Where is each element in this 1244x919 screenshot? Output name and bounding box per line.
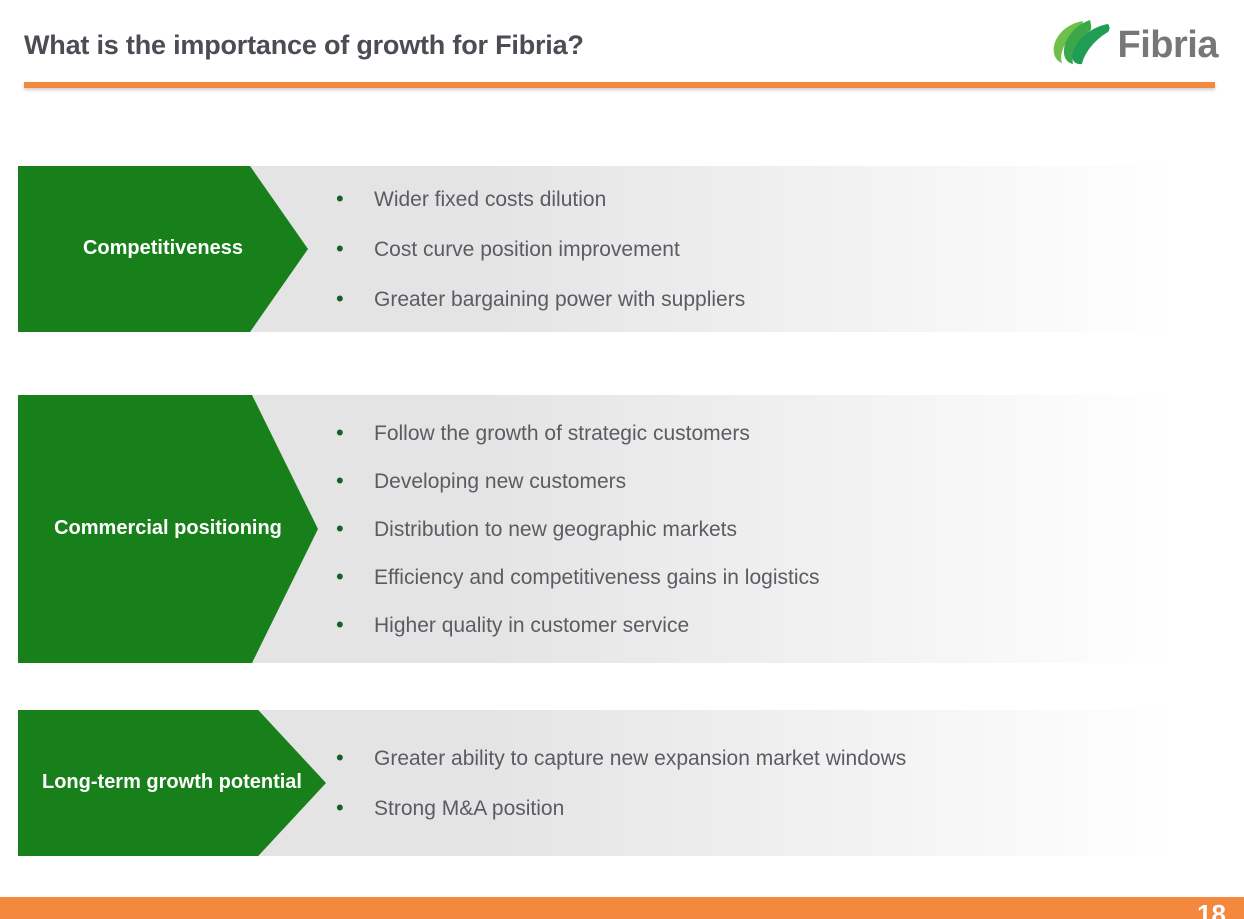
row-label-arrow-competitiveness: Competitiveness xyxy=(18,166,308,332)
row-commercial-positioning: Commercial positioning • Follow the grow… xyxy=(18,395,1175,663)
bullet-dot-icon: • xyxy=(336,422,374,444)
bullet-list-long-term-growth-potential: • Greater ability to capture new expansi… xyxy=(336,710,1175,856)
leaf-icon xyxy=(1050,18,1112,71)
list-item-label: Efficiency and competitiveness gains in … xyxy=(374,567,820,588)
list-item-label: Higher quality in customer service xyxy=(374,615,689,636)
logo-wordmark: Fibria xyxy=(1118,26,1218,64)
bullet-dot-icon: • xyxy=(336,747,374,769)
bullet-dot-icon: • xyxy=(336,797,374,819)
bullet-dot-icon: • xyxy=(336,188,374,210)
bullet-dot-icon: • xyxy=(336,566,374,588)
bullet-dot-icon: • xyxy=(336,238,374,260)
fibria-logo: Fibria xyxy=(1050,18,1218,71)
list-item-label: Developing new customers xyxy=(374,471,626,492)
list-item: • Distribution to new geographic markets xyxy=(336,518,1175,540)
footer-bar: 18 xyxy=(0,897,1244,919)
list-item: • Follow the growth of strategic custome… xyxy=(336,422,1175,444)
row-competitiveness: Competitiveness • Wider fixed costs dilu… xyxy=(18,166,1175,332)
list-item-label: Greater bargaining power with suppliers xyxy=(374,289,745,310)
list-item-label: Follow the growth of strategic customers xyxy=(374,423,750,444)
title-underline-rule xyxy=(24,82,1215,88)
bullet-list-commercial-positioning: • Follow the growth of strategic custome… xyxy=(336,395,1175,663)
list-item: • Greater ability to capture new expansi… xyxy=(336,747,1175,769)
list-item: • Wider fixed costs dilution xyxy=(336,188,1175,210)
page-number: 18 xyxy=(1197,901,1226,919)
list-item: • Cost curve position improvement xyxy=(336,238,1175,260)
list-item-label: Greater ability to capture new expansion… xyxy=(374,748,906,769)
list-item: • Developing new customers xyxy=(336,470,1175,492)
list-item: • Strong M&A position xyxy=(336,797,1175,819)
list-item-label: Strong M&A position xyxy=(374,798,564,819)
bullet-list-competitiveness: • Wider fixed costs dilution • Cost curv… xyxy=(336,166,1175,332)
list-item-label: Distribution to new geographic markets xyxy=(374,519,737,540)
list-item-label: Wider fixed costs dilution xyxy=(374,189,606,210)
bullet-dot-icon: • xyxy=(336,288,374,310)
bullet-dot-icon: • xyxy=(336,518,374,540)
row-long-term-growth-potential: Long-term growth potential • Greater abi… xyxy=(18,710,1175,856)
list-item: • Efficiency and competitiveness gains i… xyxy=(336,566,1175,588)
slide-canvas: What is the importance of growth for Fib… xyxy=(0,0,1244,919)
bullet-dot-icon: • xyxy=(336,614,374,636)
list-item: • Greater bargaining power with supplier… xyxy=(336,288,1175,310)
list-item-label: Cost curve position improvement xyxy=(374,239,680,260)
list-item: • Higher quality in customer service xyxy=(336,614,1175,636)
page-title: What is the importance of growth for Fib… xyxy=(24,30,584,61)
bullet-dot-icon: • xyxy=(336,470,374,492)
